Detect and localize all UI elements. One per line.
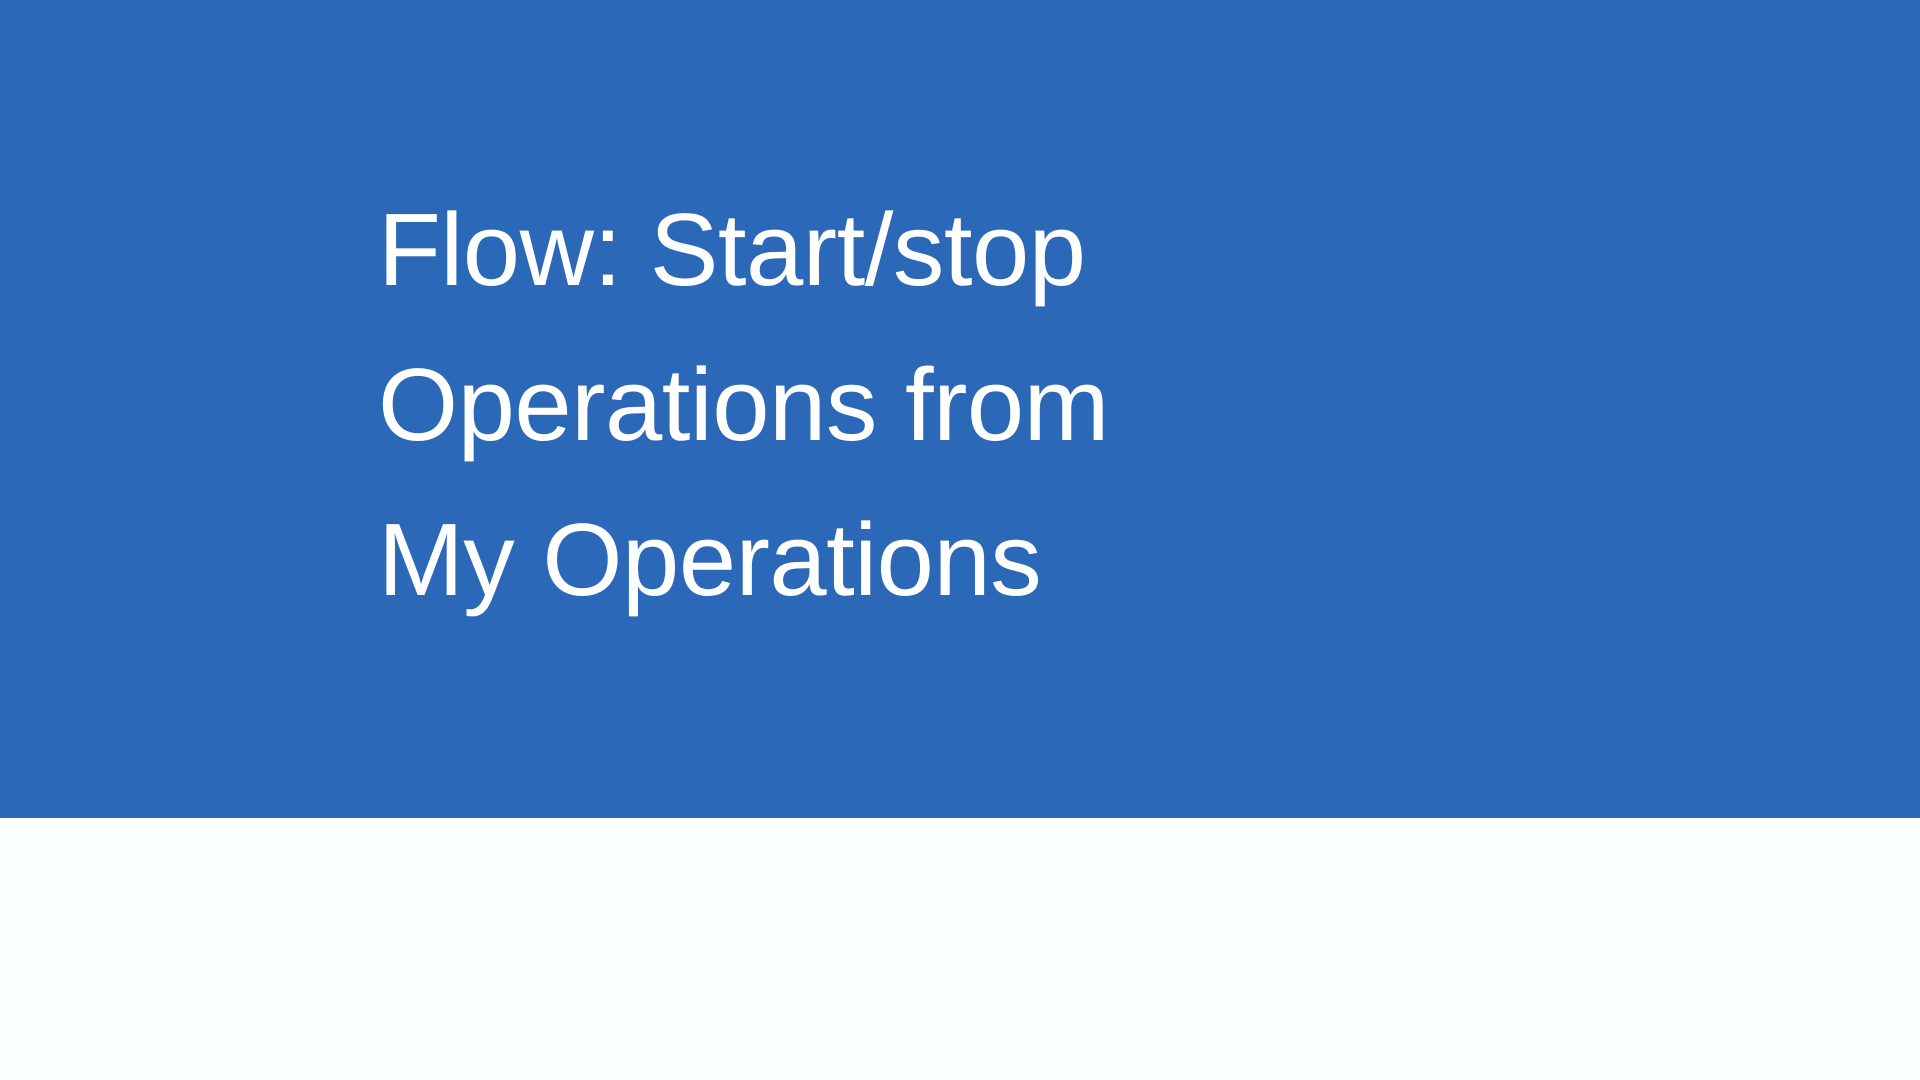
slide-title: Flow: Start/stop Operations from My Oper… — [378, 172, 1418, 637]
slide-hero-banner: Flow: Start/stop Operations from My Oper… — [0, 0, 1920, 818]
slide-footer: Presenter Sune Lohse Use Dynamics.com — [0, 818, 1920, 1080]
presentation-slide: Flow: Start/stop Operations from My Oper… — [0, 0, 1920, 1080]
